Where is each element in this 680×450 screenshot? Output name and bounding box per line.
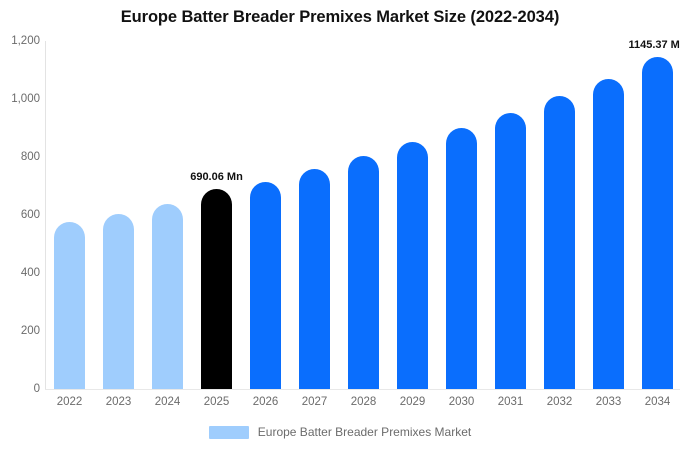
bar[interactable] — [299, 169, 330, 389]
bar[interactable] — [397, 142, 428, 389]
x-axis-tick-label: 2022 — [47, 396, 93, 408]
bar[interactable] — [54, 222, 85, 389]
bar[interactable] — [250, 182, 281, 389]
bar[interactable] — [544, 96, 575, 389]
x-axis-tick-label: 2031 — [488, 396, 534, 408]
x-axis-line — [45, 389, 680, 390]
bar[interactable] — [348, 156, 379, 389]
x-axis-tick-label: 2033 — [586, 396, 632, 408]
data-label: 690.06 Mn — [190, 171, 243, 183]
bar[interactable] — [152, 204, 183, 389]
chart-container: Europe Batter Breader Premixes Market Si… — [0, 0, 680, 450]
bar-series — [45, 41, 680, 389]
bar[interactable] — [446, 128, 477, 389]
x-axis-tick-label: 2024 — [145, 396, 191, 408]
bar[interactable] — [495, 113, 526, 389]
chart-legend: Europe Batter Breader Premixes Market — [0, 425, 680, 439]
y-axis-tick-label: 0 — [0, 383, 40, 395]
chart-title: Europe Batter Breader Premixes Market Si… — [0, 8, 680, 27]
x-axis-tick-label: 2025 — [194, 396, 240, 408]
x-axis-tick-labels: 2022202320242025202620272028202920302031… — [45, 396, 680, 416]
bar[interactable] — [593, 79, 624, 389]
x-axis-tick-label: 2029 — [390, 396, 436, 408]
x-axis-tick-label: 2027 — [292, 396, 338, 408]
legend-item-label: Europe Batter Breader Premixes Market — [258, 425, 471, 439]
legend-color-swatch — [209, 426, 249, 439]
y-axis-tick-label: 1,000 — [0, 93, 40, 105]
x-axis-tick-label: 2034 — [635, 396, 680, 408]
data-label: 1145.37 Mn — [628, 39, 680, 51]
x-axis-tick-label: 2030 — [439, 396, 485, 408]
x-axis-tick-label: 2032 — [537, 396, 583, 408]
x-axis-tick-label: 2026 — [243, 396, 289, 408]
x-axis-tick-label: 2023 — [96, 396, 142, 408]
y-axis-tick-label: 600 — [0, 209, 40, 221]
x-axis-tick-label: 2028 — [341, 396, 387, 408]
bar[interactable] — [103, 214, 134, 389]
y-axis-tick-labels: 1,2001,0008006004002000 — [0, 0, 40, 450]
bar[interactable] — [642, 57, 673, 389]
bar[interactable] — [201, 189, 232, 389]
y-axis-tick-label: 400 — [0, 267, 40, 279]
y-axis-tick-label: 200 — [0, 325, 40, 337]
y-axis-tick-label: 1,200 — [0, 35, 40, 47]
y-axis-tick-label: 800 — [0, 151, 40, 163]
